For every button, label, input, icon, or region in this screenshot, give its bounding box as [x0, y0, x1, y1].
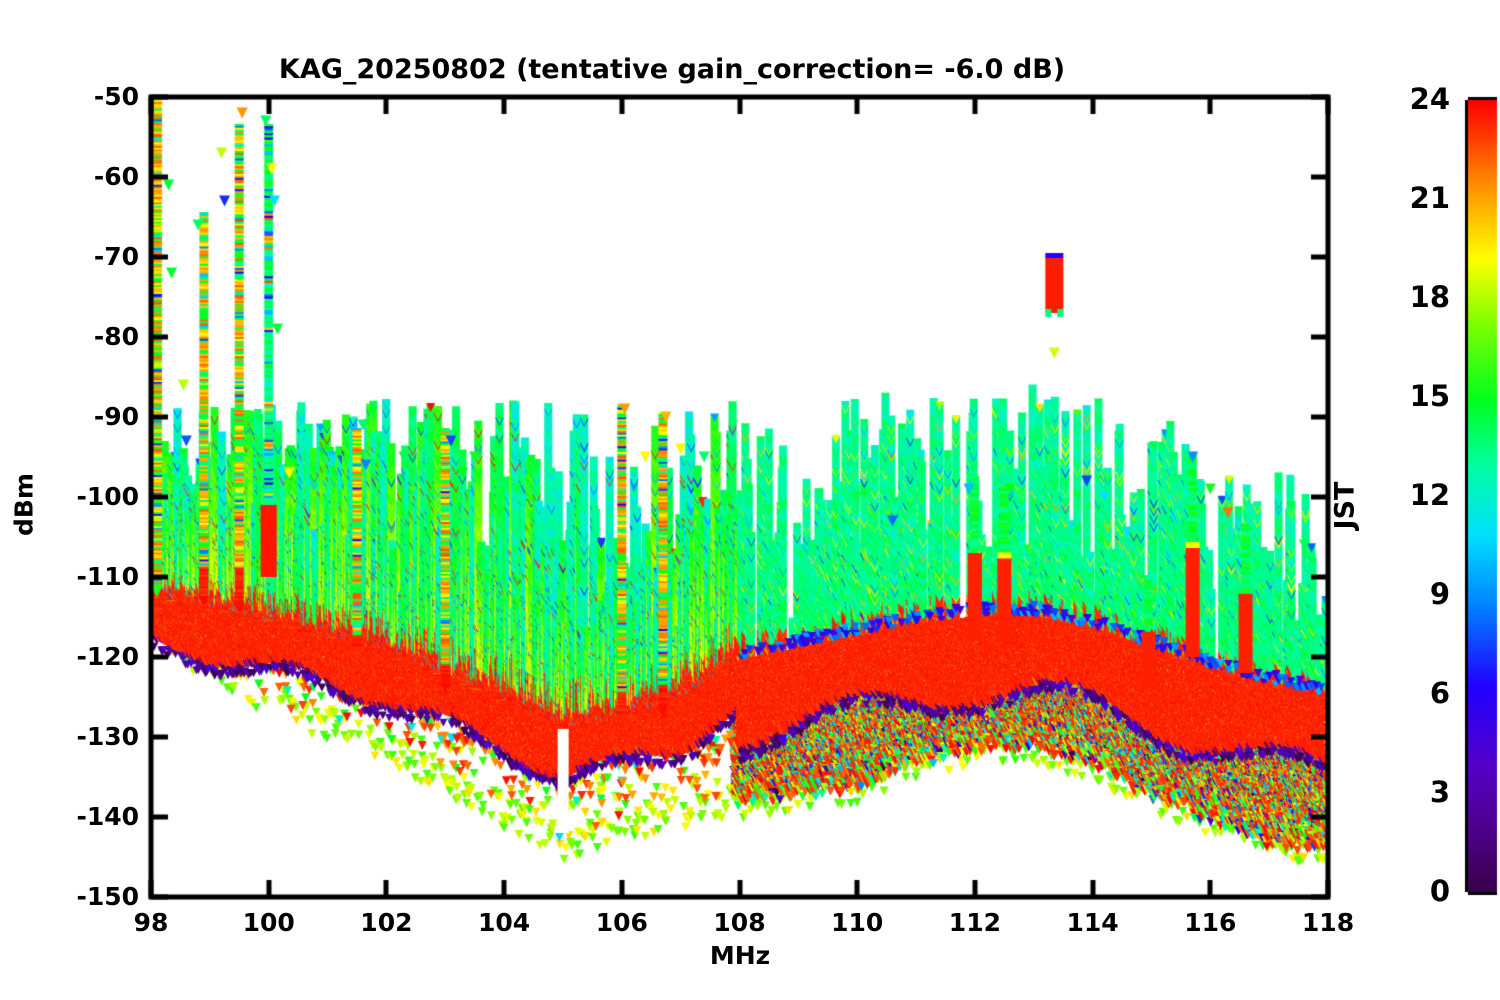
- page-title: KAG_20250802 (tentative gain_correction=…: [0, 56, 1344, 83]
- x-tick-label: 100: [224, 910, 314, 935]
- x-tick-label: 108: [695, 910, 785, 935]
- spectrum-scatter-plot: [0, 0, 1500, 1000]
- colorbar-tick-label: 21: [1380, 184, 1450, 213]
- x-tick-label: 118: [1283, 910, 1373, 935]
- x-tick-label: 114: [1048, 910, 1138, 935]
- colorbar-tick-label: 9: [1380, 580, 1450, 609]
- colorbar-tick-label: 6: [1380, 679, 1450, 708]
- colorbar-tick-label: 15: [1380, 382, 1450, 411]
- colorbar-tick-label: 0: [1380, 877, 1450, 906]
- colorbar-tick-label: 3: [1380, 778, 1450, 807]
- colorbar-label: JST: [1332, 456, 1359, 556]
- y-tick-label: -150: [29, 884, 139, 909]
- y-tick-label: -110: [29, 564, 139, 589]
- colorbar-tick-label: 24: [1380, 85, 1450, 114]
- x-tick-label: 106: [577, 910, 667, 935]
- y-tick-label: -50: [29, 84, 139, 109]
- x-tick-label: 112: [930, 910, 1020, 935]
- x-tick-label: 116: [1165, 910, 1255, 935]
- x-tick-label: 102: [341, 910, 431, 935]
- x-tick-label: 98: [106, 910, 196, 935]
- y-tick-label: -130: [29, 724, 139, 749]
- y-tick-label: -100: [29, 484, 139, 509]
- figure-root: KAG_20250802 (tentative gain_correction=…: [0, 0, 1500, 1000]
- y-tick-label: -80: [29, 324, 139, 349]
- y-tick-label: -60: [29, 164, 139, 189]
- colorbar-tick-label: 12: [1380, 481, 1450, 510]
- y-tick-label: -140: [29, 804, 139, 829]
- colorbar-tick-label: 18: [1380, 283, 1450, 312]
- y-tick-label: -120: [29, 644, 139, 669]
- y-tick-label: -90: [29, 404, 139, 429]
- y-tick-label: -70: [29, 244, 139, 269]
- x-tick-label: 104: [459, 910, 549, 935]
- x-tick-label: 110: [812, 910, 902, 935]
- x-axis-label: MHz: [151, 943, 1329, 968]
